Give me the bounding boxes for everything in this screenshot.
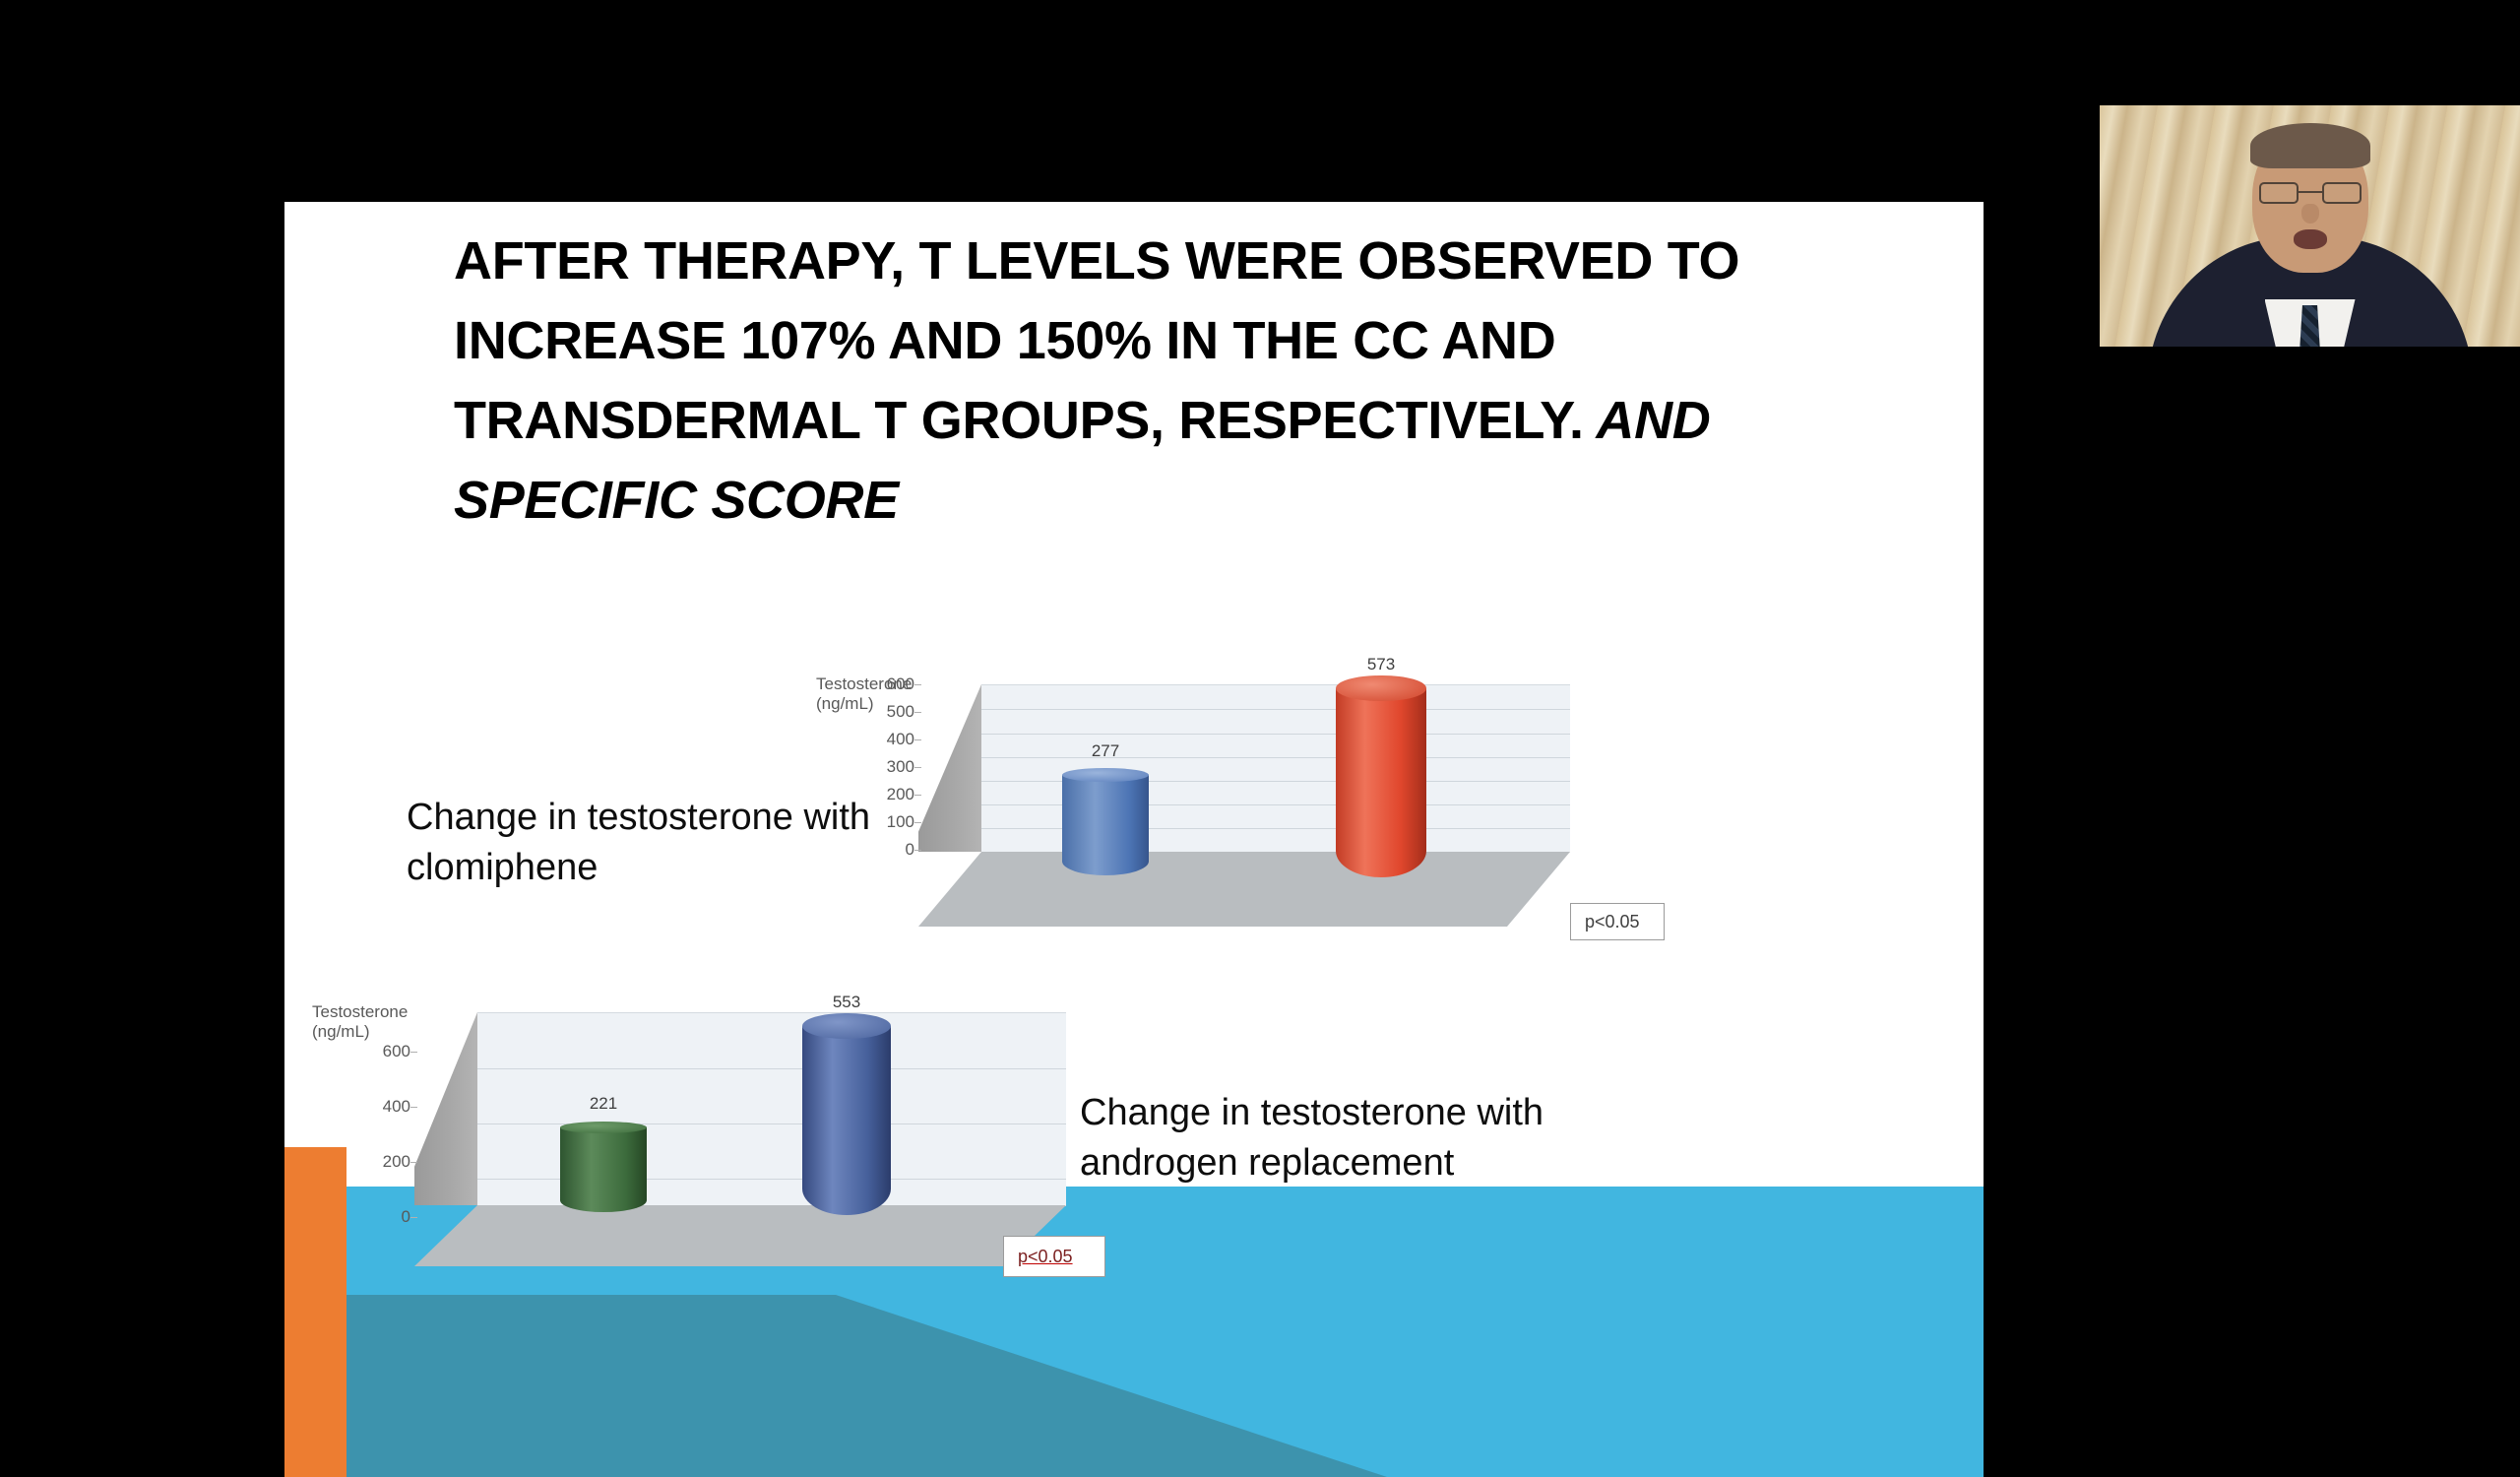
ytick: 300 (887, 757, 914, 777)
chart-clomiphene-pvalue-box: p<0.05 (1570, 903, 1665, 940)
chart-clomiphene-bar-2: 573 (1336, 688, 1426, 877)
chart-clomiphene-bar-1: 277 (1062, 775, 1149, 875)
presenter-glasses-icon (2259, 182, 2362, 204)
presenter-hair (2250, 123, 2370, 168)
presenter-mouth (2294, 229, 2327, 249)
chart-clomiphene-bar-1-value: 277 (1092, 741, 1119, 761)
ytick: 600 (383, 1042, 410, 1061)
chart-androgen-pvalue-box: p<0.05 (1003, 1236, 1105, 1277)
gridline (981, 757, 1570, 758)
caption-androgen: Change in testosterone with androgen rep… (1080, 1088, 1670, 1188)
screen-share-stage: AFTER THERAPY, T LEVELS WERE OBSERVED TO… (0, 0, 2520, 1477)
slide-title: AFTER THERAPY, T LEVELS WERE OBSERVED TO… (454, 222, 1852, 541)
chart-clomiphene-floor (918, 852, 1570, 927)
chart-androgen-floor (414, 1205, 1066, 1266)
chart-androgen-bar-1-value: 221 (590, 1094, 617, 1114)
chart-androgen-bar-1: 221 (560, 1127, 647, 1212)
caption-clomiphene: Change in testosterone with clomiphene (407, 793, 958, 893)
ytick: 0 (402, 1207, 410, 1227)
ytick: 400 (383, 1097, 410, 1117)
gridline (477, 1068, 1066, 1069)
slide-title-line-4-italic: SPECIFIC SCORE (454, 471, 899, 530)
ytick: 200 (383, 1152, 410, 1172)
chart-androgen-bar-2-value: 553 (833, 993, 860, 1012)
slide-title-line-3-italic: AND (1584, 391, 1711, 450)
ytick: 600 (887, 674, 914, 694)
chart-androgen-bar-2: 553 (802, 1026, 891, 1215)
chart-clomiphene-bar-2-value: 573 (1367, 655, 1395, 674)
ytick: 500 (887, 702, 914, 722)
slide-title-line-2: INCREASE 107% AND 150% IN THE CC AND (454, 311, 1555, 370)
chart-androgen-y-ticks: 600 400 200 0 (312, 1012, 410, 1205)
presentation-slide: AFTER THERAPY, T LEVELS WERE OBSERVED TO… (284, 202, 1984, 1477)
ytick: 400 (887, 730, 914, 749)
slide-title-line-1: AFTER THERAPY, T LEVELS WERE OBSERVED TO (454, 231, 1739, 290)
chart-androgen: Testosterone (ng/mL) 600 400 200 0 (312, 995, 1188, 1300)
presenter-video-tile[interactable] (2100, 105, 2520, 347)
presenter-nose (2301, 204, 2319, 224)
gridline (981, 709, 1570, 710)
slide-title-line-3: TRANSDERMAL T GROUPS, RESPECTIVELY. (454, 391, 1584, 450)
gridline (981, 734, 1570, 735)
